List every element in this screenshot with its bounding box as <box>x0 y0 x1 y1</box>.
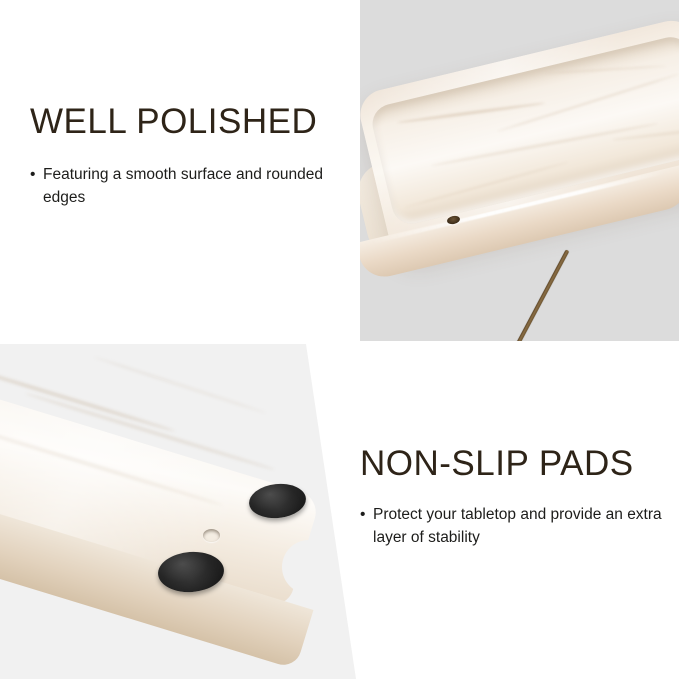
marble-vein <box>94 356 266 414</box>
feature-bullet: • Featuring a smooth surface and rounded… <box>30 163 330 210</box>
marble-scallop-notch <box>282 540 336 594</box>
text-panel-well-polished: WELL POLISHED • Featuring a smooth surfa… <box>0 0 360 341</box>
feature-heading-well-polished: WELL POLISHED <box>30 104 330 141</box>
feature-bullet-list: • Featuring a smooth surface and rounded… <box>30 163 330 210</box>
incense-hole-underside <box>203 529 220 542</box>
feature-heading-non-slip-pads: NON-SLIP PADS <box>360 446 670 483</box>
feature-bullet-text: Protect your tabletop and provide an ext… <box>373 506 662 547</box>
feature-text-non-slip-pads: NON-SLIP PADS • Protect your tabletop an… <box>360 446 670 550</box>
bullet-marker-icon: • <box>30 163 35 187</box>
infographic-canvas: WELL POLISHED • Featuring a smooth surfa… <box>0 0 679 679</box>
bullet-marker-icon: • <box>360 503 365 527</box>
feature-bullet-text: Featuring a smooth surface and rounded e… <box>43 166 323 207</box>
feature-bullet-list: • Protect your tabletop and provide an e… <box>360 503 670 550</box>
feature-bullet: • Protect your tabletop and provide an e… <box>360 503 670 550</box>
feature-text-well-polished: WELL POLISHED • Featuring a smooth surfa… <box>30 104 330 210</box>
incense-stick <box>452 249 569 341</box>
